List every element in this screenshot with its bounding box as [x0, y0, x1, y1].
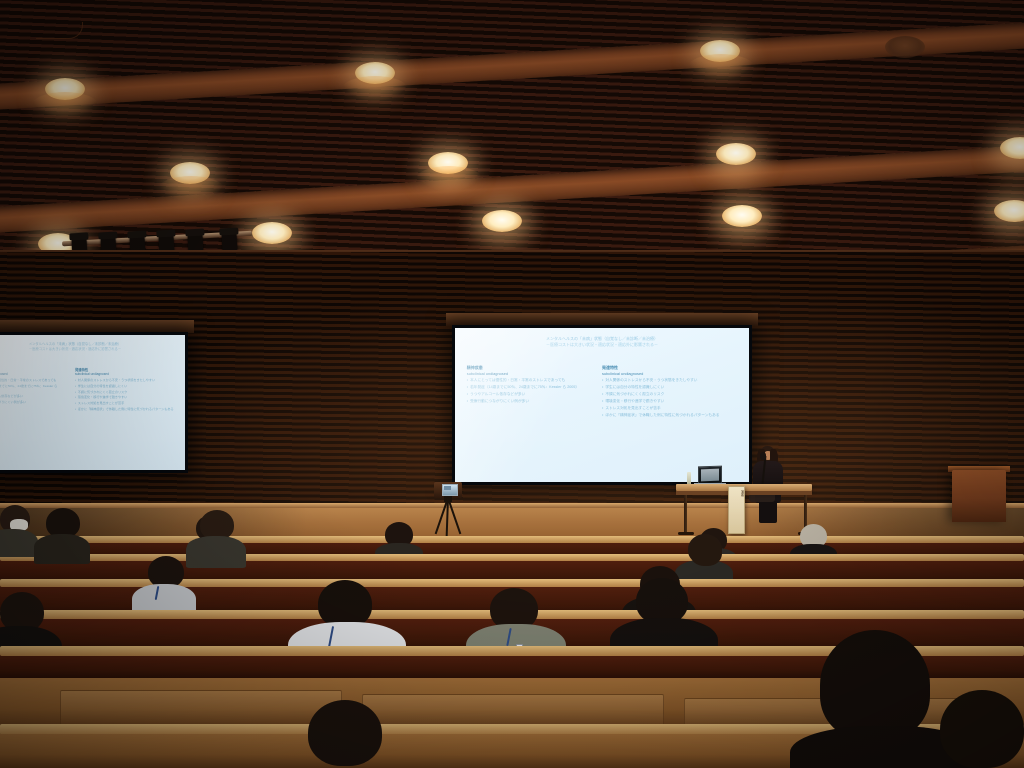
slide-right-bullet-list: 対人関係のストレスから不安・うつ状態をきたしやすい 学生には自分の特性を認識しに…	[75, 378, 178, 412]
tripod-leg	[446, 498, 449, 536]
desk-top	[0, 536, 1024, 543]
shoulders	[186, 536, 246, 568]
list-item: ストレス対処を見出すことが苦手	[75, 401, 178, 405]
ceiling-downlight	[252, 222, 292, 244]
shoulders	[0, 529, 38, 557]
list-item: ストレス対処を見出すことが苦手	[602, 406, 740, 411]
laptop-screen	[698, 466, 722, 485]
list-item: 環境変化・移行や進学で躓きやすい	[602, 399, 740, 404]
head	[940, 690, 1024, 768]
slide-left-column-subtitle: subclinical undiagnosed	[0, 372, 66, 376]
slide-right-column-subtitle: subclinical undiagnosed	[75, 372, 178, 376]
screen-frame: メンタルヘルスの「未病」状態（自覚なし／未診断／未治療） －医療コストは大きい状…	[452, 325, 752, 485]
video-camera-on-tripod	[428, 482, 468, 538]
slide-content: メンタルヘルスの「未病」状態（自覚なし／未診断／未治療） －医療コストは大きい状…	[455, 328, 749, 482]
slide-left-column: 精神疾患 subclinical undiagnosed 本人にとっては慢性的・…	[467, 365, 590, 406]
slide-header-line-2: －医療コストは大きい状況・適応状況・適応外に影響される－	[0, 347, 176, 352]
head	[690, 538, 722, 566]
head	[318, 580, 372, 628]
desk-inset-panel	[60, 690, 342, 726]
list-item: うつやアルコール依存などが多い	[467, 392, 590, 397]
shoulders	[34, 534, 90, 564]
slide-content: メンタルヘルスの「未病」状態（自覚なし／未診断／未治療） －医療コストは大きい状…	[0, 335, 185, 470]
slide-header: メンタルヘルスの「未病」状態（自覚なし／未診断／未治療） －医療コストは大きい状…	[0, 342, 176, 352]
microphone-icon	[760, 452, 766, 460]
list-item: 不調に気づかれにくく孤立のリスク	[75, 390, 178, 394]
list-item: ほかに「精神症状」で休職した例に特性に気づかれるパターンもある	[75, 407, 178, 411]
list-item: ほかに「精神症状」で休職した例に特性に気づかれるパターンもある	[602, 413, 740, 418]
light-spill	[688, 54, 754, 80]
slide-left-bullet-list: 本人にとっては慢性的・日常・平常のストレスであっても 若年発症（14歳までに50…	[0, 378, 66, 404]
camera-lcd-screen	[442, 484, 458, 496]
slide-header-line-2: －医療コストは大きい状況・適応状況・適応外に影響される－	[467, 342, 737, 348]
head-long-hair	[820, 630, 930, 740]
presenter-legs	[759, 501, 777, 523]
ceiling-downlight	[722, 205, 762, 227]
list-item: 受療行動につながりにくい例が多い	[0, 400, 66, 404]
screen-surface: メンタルヘルスの「未病」状態（自覚なし／未診断／未治療） －医療コストは大きい状…	[0, 335, 185, 470]
slide-right-bullet-list: 対人関係のストレスから不安・うつ状態をきたしやすい 学生には自分の特性を認識しに…	[602, 378, 740, 418]
list-item: 若年発症（14歳までに50％、24歳までに75％：Kessler ら 2005）	[467, 385, 590, 390]
table-foot	[678, 532, 694, 535]
lectern	[952, 470, 1006, 522]
slide-right-column: 発達特性 subclinical undiagnosed 対人関係のストレスから…	[602, 365, 740, 420]
list-item: 環境変化・移行や進学で躓きやすい	[75, 395, 178, 399]
head	[308, 700, 382, 766]
name-placard: 演者	[728, 486, 745, 534]
lecture-hall-photo: メンタルヘルスの「未病」状態（自覚なし／未診断／未治療） －医療コストは大きい状…	[0, 0, 1024, 768]
main-projection-screen: メンタルヘルスの「未病」状態（自覚なし／未診断／未治療） －医療コストは大きい状…	[452, 325, 752, 485]
list-item: 受療行動につながりにくい例が多い	[467, 399, 590, 404]
list-item: 学生には自分の特性を認識しにくい	[75, 384, 178, 388]
list-item: うつやアルコール依存などが多い	[0, 394, 66, 398]
secondary-projection-screen: メンタルヘルスの「未病」状態（自覚なし／未診断／未治療） －医療コストは大きい状…	[0, 332, 188, 473]
name-placard-text: 演者	[729, 490, 744, 496]
slide-right-column: 発達特性 subclinical undiagnosed 対人関係のストレスから…	[75, 367, 178, 413]
slide-right-column-subtitle: subclinical undiagnosed	[602, 371, 740, 376]
light-spill	[416, 166, 482, 192]
tripod-leg	[447, 498, 461, 535]
slide-left-column: 精神疾患 subclinical undiagnosed 本人にとっては慢性的・…	[0, 367, 66, 405]
camera-cable	[36, 22, 83, 39]
screen-surface: メンタルヘルスの「未病」状態（自覚なし／未診断／未治療） －医療コストは大きい状…	[455, 328, 749, 482]
ceiling-downlight-off	[885, 36, 925, 58]
light-spill	[158, 176, 224, 202]
list-item: 対人関係のストレスから不安・うつ状態をきたしやすい	[75, 378, 178, 382]
list-item: 若年発症（14歳までに50％、24歳までに75％：Kessler ら 2005）	[0, 384, 66, 392]
table-leg	[684, 495, 687, 533]
ceiling-downlight	[716, 143, 756, 165]
list-item: 本人にとっては慢性的・日常・平常のストレスであっても	[0, 378, 66, 382]
ceiling-downlight	[482, 210, 522, 232]
slide-left-column-subtitle: subclinical undiagnosed	[467, 371, 590, 376]
light-spill	[342, 76, 408, 102]
list-item: 対人関係のストレスから不安・うつ状態をきたしやすい	[602, 378, 740, 383]
light-spill	[32, 92, 98, 118]
slide-left-bullet-list: 本人にとっては慢性的・日常・平常のストレスであっても 若年発症（14歳までに50…	[467, 378, 590, 404]
slide-header: メンタルヘルスの「未病」状態（自覚なし／未診断／未治療） －医療コストは大きい状…	[467, 336, 737, 348]
list-item: 不調に気づかれにくく孤立のリスク	[602, 392, 740, 397]
list-item: 学生には自分の特性を認識しにくい	[602, 385, 740, 390]
screen-frame: メンタルヘルスの「未病」状態（自覚なし／未診断／未治療） －医療コストは大きい状…	[0, 332, 188, 473]
list-item: 本人にとっては慢性的・日常・平常のストレスであっても	[467, 378, 590, 383]
